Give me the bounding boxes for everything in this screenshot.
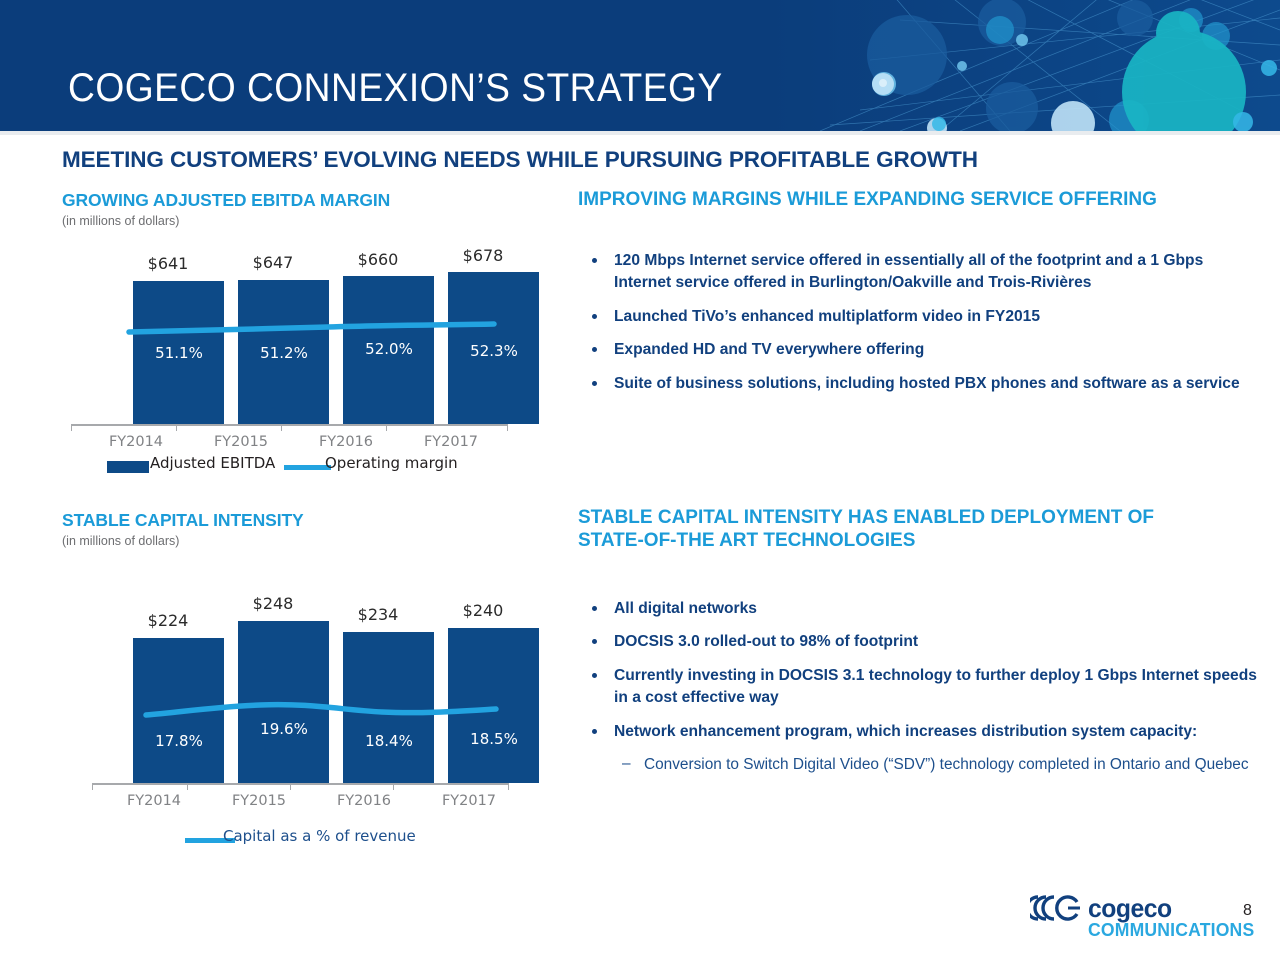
axis-tick xyxy=(386,424,387,431)
section-heading-technologies: STABLE CAPITAL INTENSITY HAS ENABLED DEP… xyxy=(578,506,1198,552)
bullet-text: 120 Mbps Internet service offered in ess… xyxy=(614,252,1203,291)
axis-tick xyxy=(507,424,508,431)
category-label: FY2014 xyxy=(104,793,204,809)
sub-bullet-text: Conversion to Switch Digital Video (“SDV… xyxy=(644,756,1249,773)
bullet-dot-icon xyxy=(592,381,597,386)
axis-tick xyxy=(508,783,509,790)
bar-pct-label: 52.0% xyxy=(345,340,433,358)
bullet-dot-icon xyxy=(592,314,597,319)
bullet-text: Expanded HD and TV everywhere offering xyxy=(614,341,924,358)
bar-pct-label: 18.5% xyxy=(450,730,538,748)
page-title: COGECO CONNEXION’S STRATEGY xyxy=(68,68,723,108)
legend-swatch-adjusted-ebitda xyxy=(107,461,149,473)
bullet-item: Currently investing in DOCSIS 3.1 techno… xyxy=(578,665,1258,710)
bullet-dot-icon xyxy=(592,729,597,734)
axis-tick xyxy=(176,424,177,431)
bullet-item: 120 Mbps Internet service offered in ess… xyxy=(578,250,1258,295)
bullet-item: Network enhancement program, which incre… xyxy=(578,721,1258,743)
section-heading-improving-margins: IMPROVING MARGINS WHILE EXPANDING SERVIC… xyxy=(578,188,1238,211)
x-axis-line xyxy=(92,783,509,785)
axis-tick xyxy=(71,424,72,431)
category-label: FY2015 xyxy=(209,793,309,809)
bullet-item: DOCSIS 3.0 rolled-out to 98% of footprin… xyxy=(578,631,1258,653)
bullet-dot-icon xyxy=(592,606,597,611)
bullet-text: DOCSIS 3.0 rolled-out to 98% of footprin… xyxy=(614,633,918,650)
bullet-list-technologies: All digital networks DOCSIS 3.0 rolled-o… xyxy=(578,598,1258,778)
bullet-item: Launched TiVo’s enhanced multiplatform v… xyxy=(578,306,1258,328)
section-units-ebitda: (in millions of dollars) xyxy=(62,214,179,228)
bullet-item: All digital networks xyxy=(578,598,1258,620)
capital-percent-line xyxy=(62,588,512,803)
header-banner: COGECO CONNEXION’S STRATEGY xyxy=(0,0,1280,131)
bar-pct-label: 51.1% xyxy=(135,344,223,362)
axis-tick xyxy=(281,424,282,431)
bar-pct-label: 17.8% xyxy=(135,732,223,750)
bullet-item: Suite of business solutions, including h… xyxy=(578,373,1258,395)
bullet-item: Expanded HD and TV everywhere offering xyxy=(578,339,1258,361)
legend-label-capital-percent: Capital as a % of revenue xyxy=(223,827,416,845)
cogeco-logo: cogeco COMMUNICATIONS xyxy=(1030,893,1230,945)
section-units-capital-intensity: (in millions of dollars) xyxy=(62,534,179,548)
sub-bullet-item: – Conversion to Switch Digital Video (“S… xyxy=(578,754,1258,776)
bullet-text: Currently investing in DOCSIS 3.1 techno… xyxy=(614,667,1257,706)
banner-divider xyxy=(0,131,1280,135)
logo-subwordmark: COMMUNICATIONS xyxy=(1088,919,1254,941)
bullet-list-improving-margins: 120 Mbps Internet service offered in ess… xyxy=(578,250,1258,406)
section-heading-capital-intensity: STABLE CAPITAL INTENSITY xyxy=(62,510,304,531)
bullet-text: Launched TiVo’s enhanced multiplatform v… xyxy=(614,308,1040,325)
category-label: FY2015 xyxy=(191,434,291,450)
category-label: FY2016 xyxy=(314,793,414,809)
slide: COGECO CONNEXION’S STRATEGY MEETING CUST… xyxy=(0,0,1280,960)
bullet-text: Network enhancement program, which incre… xyxy=(614,723,1197,740)
page-number: 8 xyxy=(1243,902,1252,920)
cogeco-arcs-icon xyxy=(1030,895,1084,921)
bullet-text: Suite of business solutions, including h… xyxy=(614,375,1240,392)
slide-subtitle: MEETING CUSTOMERS’ EVOLVING NEEDS WHILE … xyxy=(62,147,978,173)
bar-pct-label: 19.6% xyxy=(240,720,328,738)
bullet-dot-icon xyxy=(592,258,597,263)
x-axis-line xyxy=(71,424,508,426)
legend-label-adjusted-ebitda: Adjusted EBITDA xyxy=(150,454,275,472)
legend-swatch-operating-margin xyxy=(284,465,331,470)
dash-marker-icon: – xyxy=(622,753,631,775)
bullet-dot-icon xyxy=(592,347,597,352)
category-label: FY2017 xyxy=(419,793,519,809)
chart-capital-intensity: $224 $248 $234 $240 17.8% 19.6% 18.4% 18… xyxy=(62,588,512,858)
axis-tick xyxy=(393,783,394,790)
axis-tick xyxy=(187,783,188,790)
bullet-dot-icon xyxy=(592,673,597,678)
category-label: FY2016 xyxy=(296,434,396,450)
bar-pct-label: 18.4% xyxy=(345,732,433,750)
category-label: FY2017 xyxy=(401,434,501,450)
section-heading-ebitda: GROWING ADJUSTED EBITDA MARGIN xyxy=(62,190,390,211)
axis-tick xyxy=(290,783,291,790)
category-label: FY2014 xyxy=(86,434,186,450)
chart-adjusted-ebitda: $641 $647 $660 $678 51.1% 51.2% 52.0% 52… xyxy=(62,244,512,484)
bar-pct-label: 52.3% xyxy=(450,342,538,360)
bullet-dot-icon xyxy=(592,639,597,644)
legend-label-operating-margin: Operating margin xyxy=(325,454,458,472)
bar-pct-label: 51.2% xyxy=(240,344,328,362)
bullet-text: All digital networks xyxy=(614,600,757,617)
axis-tick xyxy=(92,783,93,790)
